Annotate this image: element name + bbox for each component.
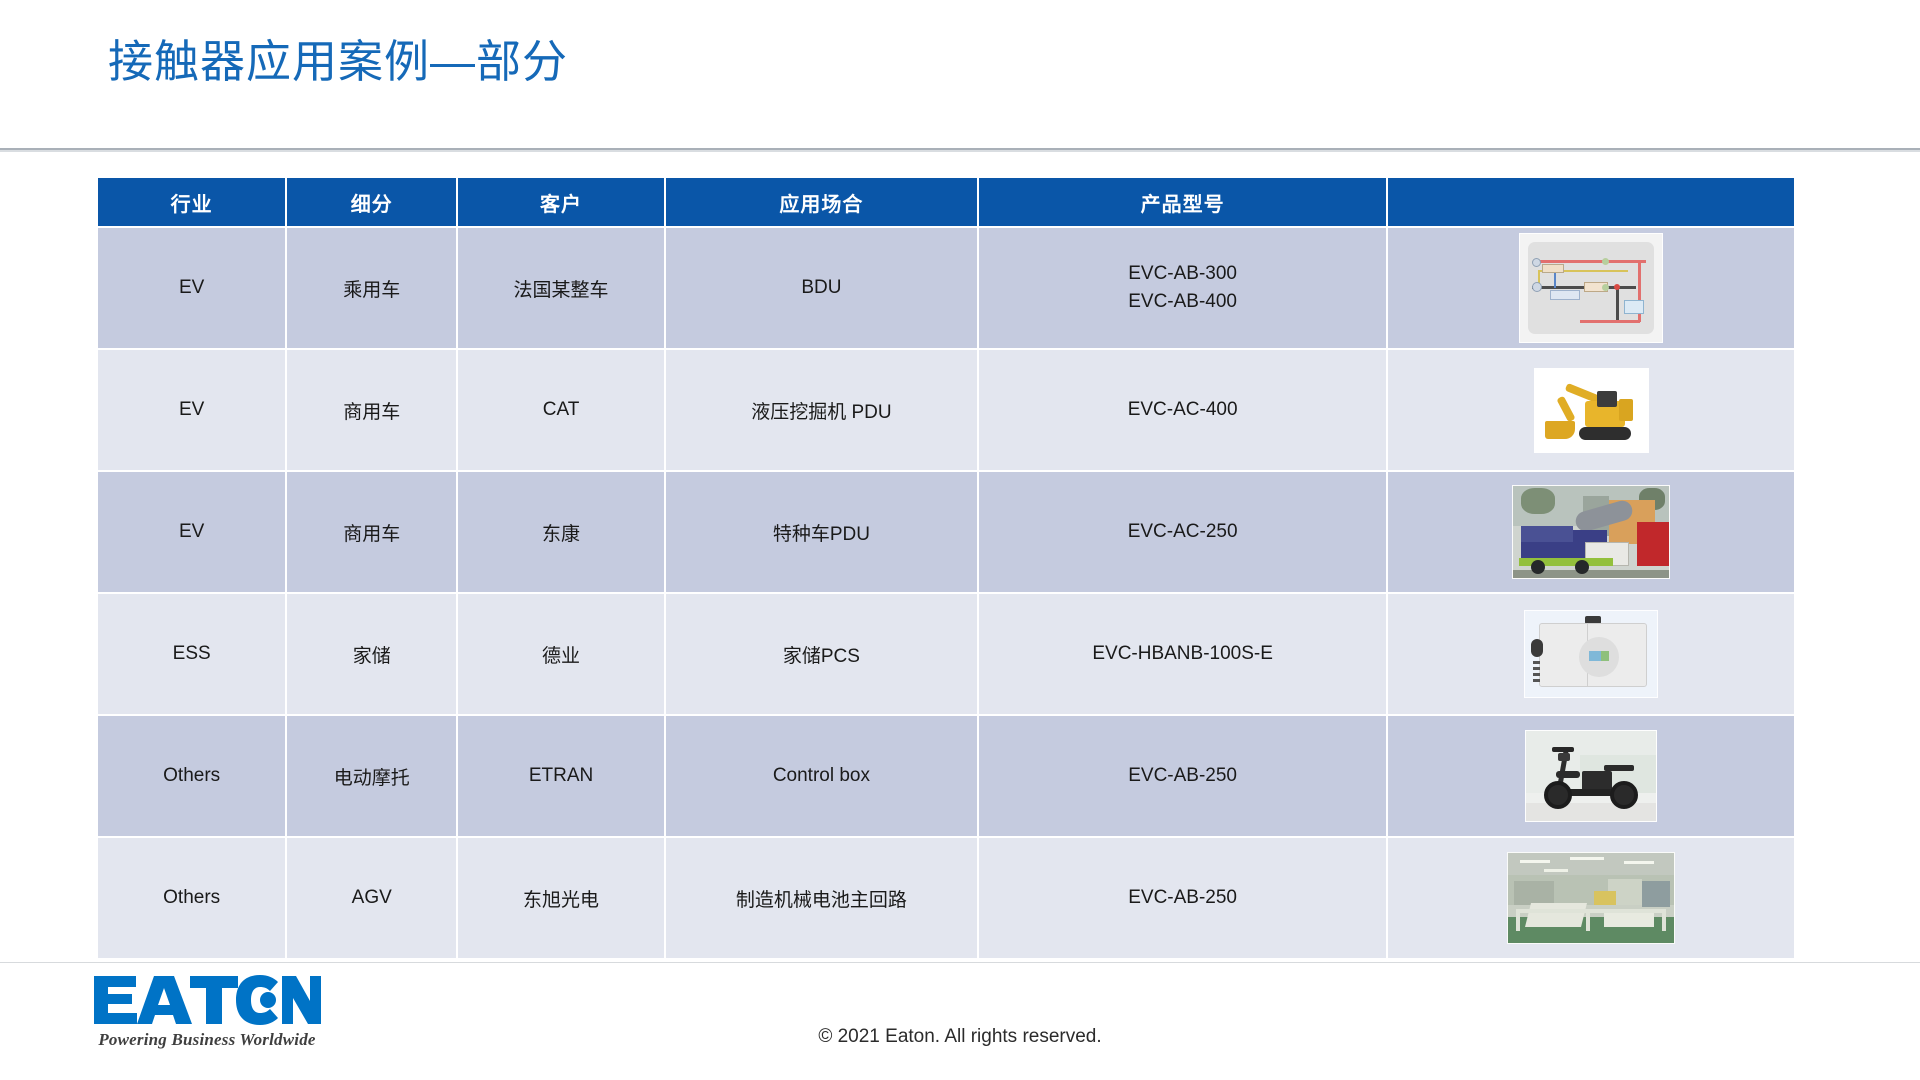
cell-segment: 商用车	[287, 350, 456, 470]
excavator-cab-icon	[1597, 391, 1617, 407]
pcs-port-icon	[1533, 661, 1540, 664]
cell-product-model: EVC-AB-250	[979, 716, 1387, 836]
cell-customer: 东康	[458, 472, 664, 592]
column-header-application: 应用场合	[666, 178, 977, 226]
product-model-line: EVC-AB-300	[985, 260, 1381, 288]
product-model-line: EVC-AB-250	[985, 884, 1381, 912]
table-row: EV 商用车 东康 特种车PDU EVC-AC-250	[98, 472, 1794, 592]
cell-application: 制造机械电池主回路	[666, 838, 977, 958]
excavator-track-icon	[1579, 427, 1631, 440]
schematic-block-icon	[1542, 264, 1564, 273]
footer-divider	[0, 962, 1920, 963]
pcs-port-icon	[1533, 679, 1540, 682]
product-model-line: EVC-AC-400	[985, 396, 1381, 424]
schematic-red-line-icon	[1534, 260, 1646, 263]
cell-segment: 家储	[287, 594, 456, 714]
table-row: ESS 家储 德业 家储PCS EVC-HBANB-100S-E	[98, 594, 1794, 714]
cell-segment: 电动摩托	[287, 716, 456, 836]
ceiling-light-icon	[1624, 861, 1654, 864]
cell-application: 家储PCS	[666, 594, 977, 714]
page-title: 接触器应用案例—部分	[108, 32, 568, 92]
pcs-port-icon	[1533, 667, 1540, 670]
excavator-bucket-icon	[1545, 421, 1575, 439]
table-row: EV 商用车 CAT 液压挖掘机 PDU EVC-AC-400	[98, 350, 1794, 470]
column-header-product-model: 产品型号	[979, 178, 1387, 226]
cell-image	[1388, 472, 1794, 592]
cases-table-container: 行业 细分 客户 应用场合 产品型号 EV 乘用车 法国某整车 BDU EVC-…	[96, 176, 1796, 960]
cell-customer: 法国某整车	[458, 228, 664, 348]
excavator-counterweight-icon	[1619, 399, 1633, 421]
cell-image	[1388, 228, 1794, 348]
schematic-block-icon	[1624, 300, 1644, 314]
guard-rail-icon	[1516, 909, 1520, 931]
eaton-logo-icon	[92, 972, 322, 1028]
conveyor-icon	[1525, 903, 1587, 927]
scooter-headlight-icon	[1558, 753, 1570, 761]
wheel-icon	[1610, 781, 1638, 809]
table-row: Others 电动摩托 ETRAN Control box EVC-AB-250	[98, 716, 1794, 836]
scooter-handlebar-icon	[1552, 747, 1574, 752]
cell-image	[1388, 716, 1794, 836]
conveyor-icon	[1604, 913, 1654, 927]
schematic-diagram-thumbnail	[1519, 233, 1663, 343]
cell-application: BDU	[666, 228, 977, 348]
electric-scooter-thumbnail	[1525, 730, 1657, 822]
product-model-line: EVC-AB-250	[985, 762, 1381, 790]
cell-product-model: EVC-AC-400	[979, 350, 1387, 470]
cell-segment: 乘用车	[287, 228, 456, 348]
ceiling-light-icon	[1520, 860, 1550, 863]
cell-customer: ETRAN	[458, 716, 664, 836]
cell-segment: 商用车	[287, 472, 456, 592]
schematic-red-line-icon	[1580, 320, 1640, 323]
cases-table: 行业 细分 客户 应用场合 产品型号 EV 乘用车 法国某整车 BDU EVC-…	[96, 176, 1796, 960]
pcs-knob-icon	[1531, 639, 1543, 657]
pcs-port-icon	[1533, 673, 1540, 676]
cell-product-model: EVC-HBANB-100S-E	[979, 594, 1387, 714]
machine-icon	[1514, 881, 1554, 905]
column-header-customer: 客户	[458, 178, 664, 226]
table-header-row: 行业 细分 客户 应用场合 产品型号	[98, 178, 1794, 226]
machine-icon	[1594, 891, 1616, 905]
cell-industry: EV	[98, 350, 285, 470]
column-header-image	[1388, 178, 1794, 226]
truck-bed-icon	[1521, 526, 1573, 542]
cell-application: 液压挖掘机 PDU	[666, 350, 977, 470]
cell-segment: AGV	[287, 838, 456, 958]
copyright-text: © 2021 Eaton. All rights reserved.	[0, 1026, 1920, 1048]
cell-industry: ESS	[98, 594, 285, 714]
title-divider	[0, 148, 1920, 152]
excavator-thumbnail	[1534, 368, 1649, 453]
wheel-icon	[1544, 781, 1572, 809]
column-header-segment: 细分	[287, 178, 456, 226]
cell-image	[1388, 838, 1794, 958]
schematic-black-line-icon	[1616, 286, 1619, 320]
special-vehicle-thumbnail	[1512, 485, 1670, 579]
product-model-line: EVC-HBANB-100S-E	[985, 640, 1381, 668]
factory-line-thumbnail	[1507, 852, 1675, 944]
product-model-line: EVC-AB-400	[985, 288, 1381, 316]
table-row: Others AGV 东旭光电 制造机械电池主回路 EVC-AB-250	[98, 838, 1794, 958]
pcs-label-icon	[1601, 651, 1609, 661]
cell-image	[1388, 594, 1794, 714]
schematic-blue-line-icon	[1554, 272, 1556, 288]
schematic-block-icon	[1550, 290, 1580, 300]
cell-industry: EV	[98, 472, 285, 592]
cell-industry: Others	[98, 716, 285, 836]
cell-industry: Others	[98, 838, 285, 958]
excavator-boom-icon	[1564, 382, 1599, 402]
cell-application: Control box	[666, 716, 977, 836]
cell-product-model: EVC-AB-300 EVC-AB-400	[979, 228, 1387, 348]
home-storage-pcs-thumbnail	[1524, 610, 1658, 698]
cell-industry: EV	[98, 228, 285, 348]
cell-customer: 东旭光电	[458, 838, 664, 958]
cell-application: 特种车PDU	[666, 472, 977, 592]
column-header-industry: 行业	[98, 178, 285, 226]
cell-customer: CAT	[458, 350, 664, 470]
ceiling-light-icon	[1544, 869, 1568, 872]
table-row: EV 乘用车 法国某整车 BDU EVC-AB-300 EVC-AB-400	[98, 228, 1794, 348]
guard-rail-icon	[1516, 909, 1666, 913]
cell-image	[1388, 350, 1794, 470]
tree-icon	[1521, 488, 1555, 514]
cell-product-model: EVC-AC-250	[979, 472, 1387, 592]
slide: 接触器应用案例—部分 行业 细分 客户 应用场合 产品型号	[0, 0, 1920, 1080]
excavator-arm-icon	[1556, 395, 1575, 422]
guard-rail-icon	[1586, 909, 1590, 931]
cell-product-model: EVC-AB-250	[979, 838, 1387, 958]
product-model-line: EVC-AC-250	[985, 518, 1381, 546]
machine-icon	[1642, 881, 1670, 907]
red-truck-icon	[1637, 522, 1670, 566]
cell-customer: 德业	[458, 594, 664, 714]
ground-icon	[1526, 803, 1657, 822]
scooter-seat-icon	[1556, 771, 1580, 778]
guard-rail-icon	[1662, 909, 1666, 931]
ceiling-light-icon	[1570, 857, 1604, 860]
